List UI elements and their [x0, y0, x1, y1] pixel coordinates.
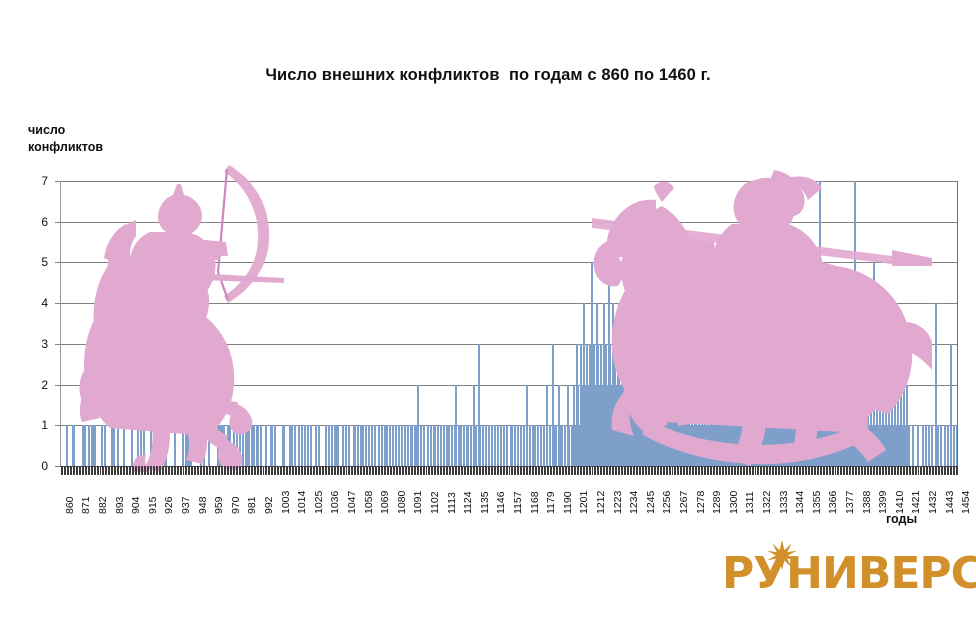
bar	[371, 425, 373, 466]
bar	[253, 425, 255, 466]
bar	[543, 425, 545, 466]
chart-title: Число внешних конфликтов по годам с 860 …	[0, 66, 976, 85]
bar	[398, 425, 400, 466]
bar	[540, 425, 542, 466]
bar	[912, 425, 914, 466]
bar	[137, 425, 139, 466]
x-tick-label-926: 926	[164, 496, 174, 514]
x-tick-label-1421: 1421	[911, 491, 921, 514]
bar	[294, 425, 296, 466]
x-tick-label-1091: 1091	[413, 491, 423, 514]
x-tick-label-1377: 1377	[845, 491, 855, 514]
x-tick-label-1058: 1058	[364, 491, 374, 514]
bar	[931, 425, 933, 466]
y-axis-title: число конфликтов	[28, 122, 103, 156]
y-tick-label-2: 2	[26, 378, 48, 392]
x-tick-label-1267: 1267	[679, 491, 689, 514]
bar	[392, 425, 394, 466]
bar	[470, 425, 472, 466]
bar	[123, 425, 125, 466]
bar	[420, 425, 422, 466]
bar	[301, 425, 303, 466]
bar	[503, 425, 505, 466]
bar	[291, 425, 293, 466]
bar	[73, 425, 75, 466]
bar	[537, 425, 539, 466]
bar	[389, 425, 391, 466]
bar	[423, 425, 425, 466]
bar	[437, 425, 439, 466]
bar	[156, 425, 158, 466]
bar	[304, 425, 306, 466]
x-tick-label-959: 959	[214, 496, 224, 514]
bar	[239, 425, 241, 466]
bar	[242, 425, 244, 466]
bar	[260, 425, 262, 466]
bar	[937, 425, 939, 466]
y-tick-label-1: 1	[26, 418, 48, 432]
x-tick-label-882: 882	[98, 496, 108, 514]
y-tick-label-6: 6	[26, 215, 48, 229]
bar	[150, 425, 152, 466]
x-axis-ticks	[60, 466, 958, 476]
chart-root: Число внешних конфликтов по годам с 860 …	[0, 0, 976, 634]
bar	[233, 425, 235, 466]
bar	[455, 385, 457, 466]
bar	[467, 425, 469, 466]
bar	[190, 425, 192, 466]
bar	[925, 425, 927, 466]
bar	[517, 425, 519, 466]
x-tick-label-893: 893	[115, 496, 125, 514]
x-tick-label-1080: 1080	[397, 491, 407, 514]
bar	[257, 425, 259, 466]
bar	[564, 425, 566, 466]
bar	[357, 425, 359, 466]
bar	[417, 385, 419, 466]
bar	[407, 425, 409, 466]
x-tick-label-1223: 1223	[613, 491, 623, 514]
bar	[443, 425, 445, 466]
x-tick-label-1190: 1190	[563, 491, 573, 514]
bar	[374, 425, 376, 466]
x-tick-label-1410: 1410	[895, 491, 905, 514]
y-tick-label-4: 4	[26, 296, 48, 310]
x-tick-label-1234: 1234	[629, 491, 639, 514]
bar	[153, 425, 155, 466]
bar	[386, 425, 388, 466]
x-tick-label-1355: 1355	[812, 491, 822, 514]
bar	[182, 425, 184, 466]
bar	[520, 425, 522, 466]
bar	[337, 425, 339, 466]
x-tick-label-1256: 1256	[662, 491, 672, 514]
bar	[534, 425, 536, 466]
bar	[511, 425, 513, 466]
bar	[140, 425, 142, 466]
x-tick-label-915: 915	[148, 496, 158, 514]
bar	[368, 425, 370, 466]
x-tick-label-1036: 1036	[330, 491, 340, 514]
x-tick-label-1278: 1278	[696, 491, 706, 514]
logo-text: РУНИВЕРС	[722, 548, 976, 600]
bar	[236, 425, 238, 466]
bar	[497, 425, 499, 466]
bar	[491, 425, 493, 466]
bar	[117, 425, 119, 466]
bar	[315, 425, 317, 466]
x-tick-label-1047: 1047	[347, 491, 357, 514]
bar	[514, 425, 516, 466]
bar	[482, 425, 484, 466]
bar	[546, 385, 548, 466]
bar	[203, 425, 205, 466]
bar	[940, 425, 942, 466]
x-tick-label-948: 948	[198, 496, 208, 514]
bar	[448, 425, 450, 466]
x-tick-label-871: 871	[81, 496, 91, 514]
x-tick-label-904: 904	[131, 496, 141, 514]
x-tick-label-1124: 1124	[463, 491, 473, 514]
bar	[307, 425, 309, 466]
bar	[460, 425, 462, 466]
bar	[401, 425, 403, 466]
x-tick-label-1025: 1025	[314, 491, 324, 514]
bar	[298, 425, 300, 466]
bar	[440, 425, 442, 466]
bar	[131, 425, 133, 466]
x-tick-label-1069: 1069	[380, 491, 390, 514]
bar	[318, 425, 320, 466]
bar	[274, 425, 276, 466]
bar	[479, 425, 481, 466]
x-tick-label-1168: 1168	[530, 491, 540, 514]
bar	[411, 425, 413, 466]
bar	[506, 425, 508, 466]
x-tick-label-1003: 1003	[281, 491, 291, 514]
x-tick-label-1344: 1344	[795, 491, 805, 514]
x-tick-label-1432: 1432	[928, 491, 938, 514]
bar	[200, 425, 202, 466]
bar	[463, 425, 465, 466]
bar	[922, 425, 924, 466]
bar	[488, 425, 490, 466]
bar	[283, 425, 285, 466]
x-tick-label-1300: 1300	[729, 491, 739, 514]
bar	[500, 425, 502, 466]
bar	[917, 425, 919, 466]
bar	[526, 385, 528, 466]
x-tick-label-1113: 1113	[447, 492, 457, 514]
bar	[165, 425, 167, 466]
bar	[529, 425, 531, 466]
bar	[345, 425, 347, 466]
x-tick-label-1388: 1388	[862, 491, 872, 514]
x-tick-label-1289: 1289	[712, 491, 722, 514]
bar	[143, 425, 145, 466]
bar	[494, 425, 496, 466]
x-tick-label-1443: 1443	[945, 491, 955, 514]
bar	[328, 425, 330, 466]
bar	[223, 425, 225, 466]
bar	[325, 425, 327, 466]
bar	[561, 425, 563, 466]
bar	[66, 425, 68, 466]
bar	[950, 344, 952, 466]
x-tick-label-1146: 1146	[496, 491, 506, 514]
x-tick-label-1201: 1201	[579, 491, 589, 514]
bar	[427, 425, 429, 466]
y-tick-label-7: 7	[26, 174, 48, 188]
bar	[908, 425, 910, 466]
x-tick-label-1366: 1366	[828, 491, 838, 514]
bar	[248, 425, 250, 466]
bar	[947, 425, 949, 466]
bar	[94, 425, 96, 466]
bar	[208, 425, 210, 466]
plot-area	[60, 181, 958, 466]
x-tick-label-970: 970	[231, 496, 241, 514]
bars-layer	[60, 181, 958, 466]
runivers-logo[interactable]: РУНИВЕРС	[722, 548, 976, 600]
y-tick-label-3: 3	[26, 337, 48, 351]
bar	[354, 425, 356, 466]
bar	[451, 425, 453, 466]
bar	[229, 425, 231, 466]
bar	[555, 425, 557, 466]
bar	[434, 425, 436, 466]
bar	[475, 425, 477, 466]
x-tick-label-860: 860	[65, 496, 75, 514]
x-tick-label-981: 981	[247, 496, 257, 514]
bar	[378, 425, 380, 466]
x-tick-label-1157: 1157	[513, 491, 523, 514]
bar	[404, 425, 406, 466]
bar	[485, 425, 487, 466]
bar	[331, 425, 333, 466]
bar	[271, 425, 273, 466]
bar	[310, 425, 312, 466]
bar	[568, 425, 570, 466]
x-tick-label-1102: 1102	[430, 491, 440, 514]
x-tick-label-1333: 1333	[779, 491, 789, 514]
x-tick-label-937: 937	[181, 496, 191, 514]
y-tick-label-5: 5	[26, 255, 48, 269]
bar	[104, 425, 106, 466]
bar	[88, 425, 90, 466]
x-tick-label-1322: 1322	[762, 491, 772, 514]
bar	[430, 425, 432, 466]
bar	[174, 425, 176, 466]
bar	[953, 425, 955, 466]
y-tick-label-0: 0	[26, 459, 48, 473]
x-tick-label-1454: 1454	[961, 491, 971, 514]
bar	[956, 425, 958, 466]
bar	[381, 425, 383, 466]
bar	[265, 425, 267, 466]
bar	[523, 425, 525, 466]
x-axis-labels: 8608718828939049159269379489599709819921…	[60, 476, 958, 518]
x-tick-label-1311: 1311	[745, 491, 755, 514]
x-tick-label-1212: 1212	[596, 491, 606, 514]
bar	[365, 425, 367, 466]
x-tick	[957, 466, 958, 475]
x-tick-label-1135: 1135	[480, 491, 490, 514]
bar	[395, 425, 397, 466]
bar	[549, 425, 551, 466]
bar	[928, 425, 930, 466]
x-tick-label-1245: 1245	[646, 491, 656, 514]
bar	[113, 425, 115, 466]
x-tick-label-1014: 1014	[297, 491, 307, 514]
x-tick-label-1399: 1399	[878, 491, 888, 514]
bar	[84, 425, 86, 466]
bar	[944, 425, 946, 466]
starburst-icon	[767, 540, 797, 570]
x-tick-label-992: 992	[264, 496, 274, 514]
x-tick-label-1179: 1179	[546, 491, 556, 514]
bar	[101, 425, 103, 466]
bar	[348, 425, 350, 466]
bar	[362, 425, 364, 466]
bar	[342, 425, 344, 466]
